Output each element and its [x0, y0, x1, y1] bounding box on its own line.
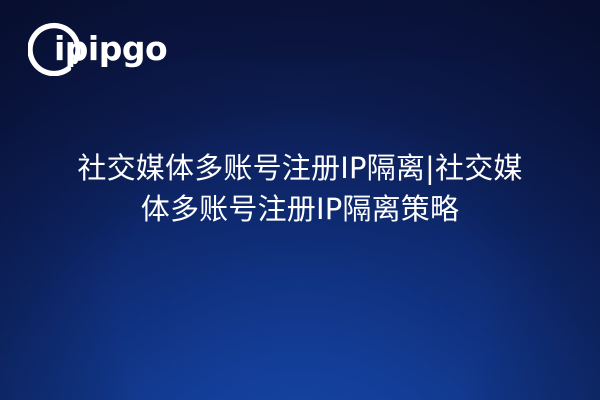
logo[interactable]: ipipgo	[28, 22, 178, 78]
page-title-line-2: 体多账号注册IP隔离策略	[0, 189, 600, 230]
banner: ipipgo 社交媒体多账号注册IP隔离|社交媒 体多账号注册IP隔离策略	[0, 0, 600, 400]
page-title-line-1: 社交媒体多账号注册IP隔离|社交媒	[0, 148, 600, 189]
page-title: 社交媒体多账号注册IP隔离|社交媒 体多账号注册IP隔离策略	[0, 148, 600, 230]
logo-wordmark: ipipgo	[54, 31, 167, 67]
